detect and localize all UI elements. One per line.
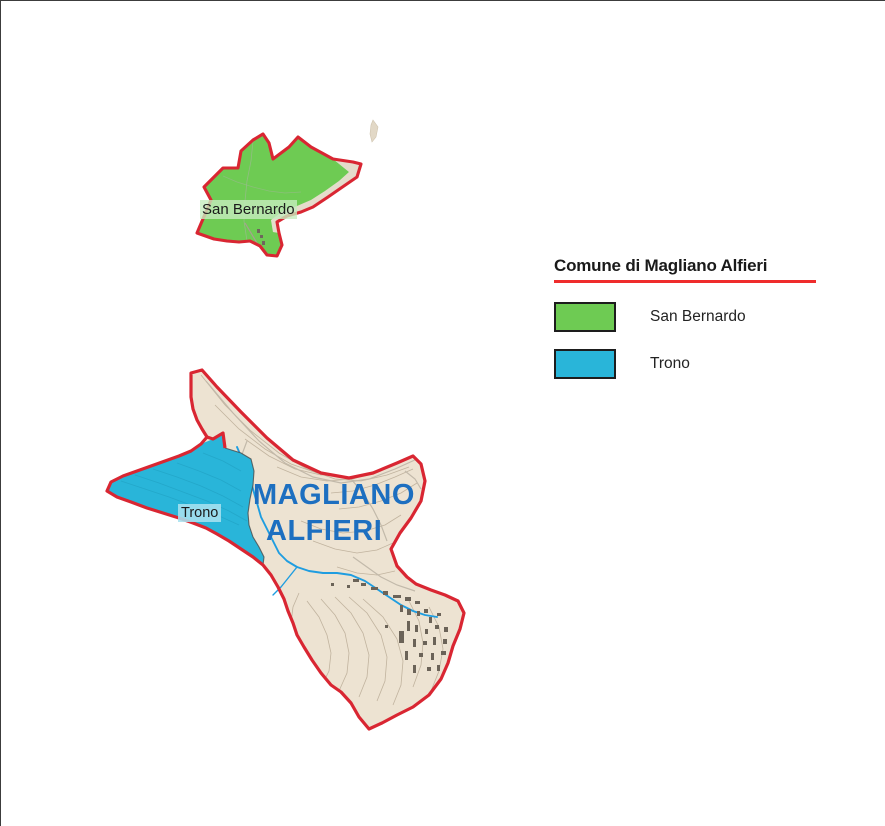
- legend-item-san-bernardo: San Bernardo: [554, 302, 854, 332]
- map-page: San Bernardo Trono MAGLIANO ALFIERI Comu…: [0, 0, 885, 826]
- legend: Comune di Magliano Alfieri San Bernardo …: [554, 256, 854, 396]
- area-san-bernardo: [197, 134, 361, 256]
- map-canvas: [1, 1, 885, 826]
- legend-swatch-trono: [554, 349, 616, 379]
- legend-title: Comune di Magliano Alfieri: [554, 256, 854, 280]
- legend-label-trono: Trono: [650, 355, 690, 373]
- legend-item-trono: Trono: [554, 349, 854, 379]
- legend-label-san-bernardo: San Bernardo: [650, 308, 746, 326]
- legend-swatch-san-bernardo: [554, 302, 616, 332]
- magliano-terrain-fill: [107, 370, 464, 729]
- detached-sliver: [370, 120, 378, 142]
- area-magliano-alfieri: [107, 370, 464, 729]
- road-line: [393, 441, 417, 453]
- legend-title-underline: [554, 280, 816, 283]
- road-line: [321, 423, 389, 471]
